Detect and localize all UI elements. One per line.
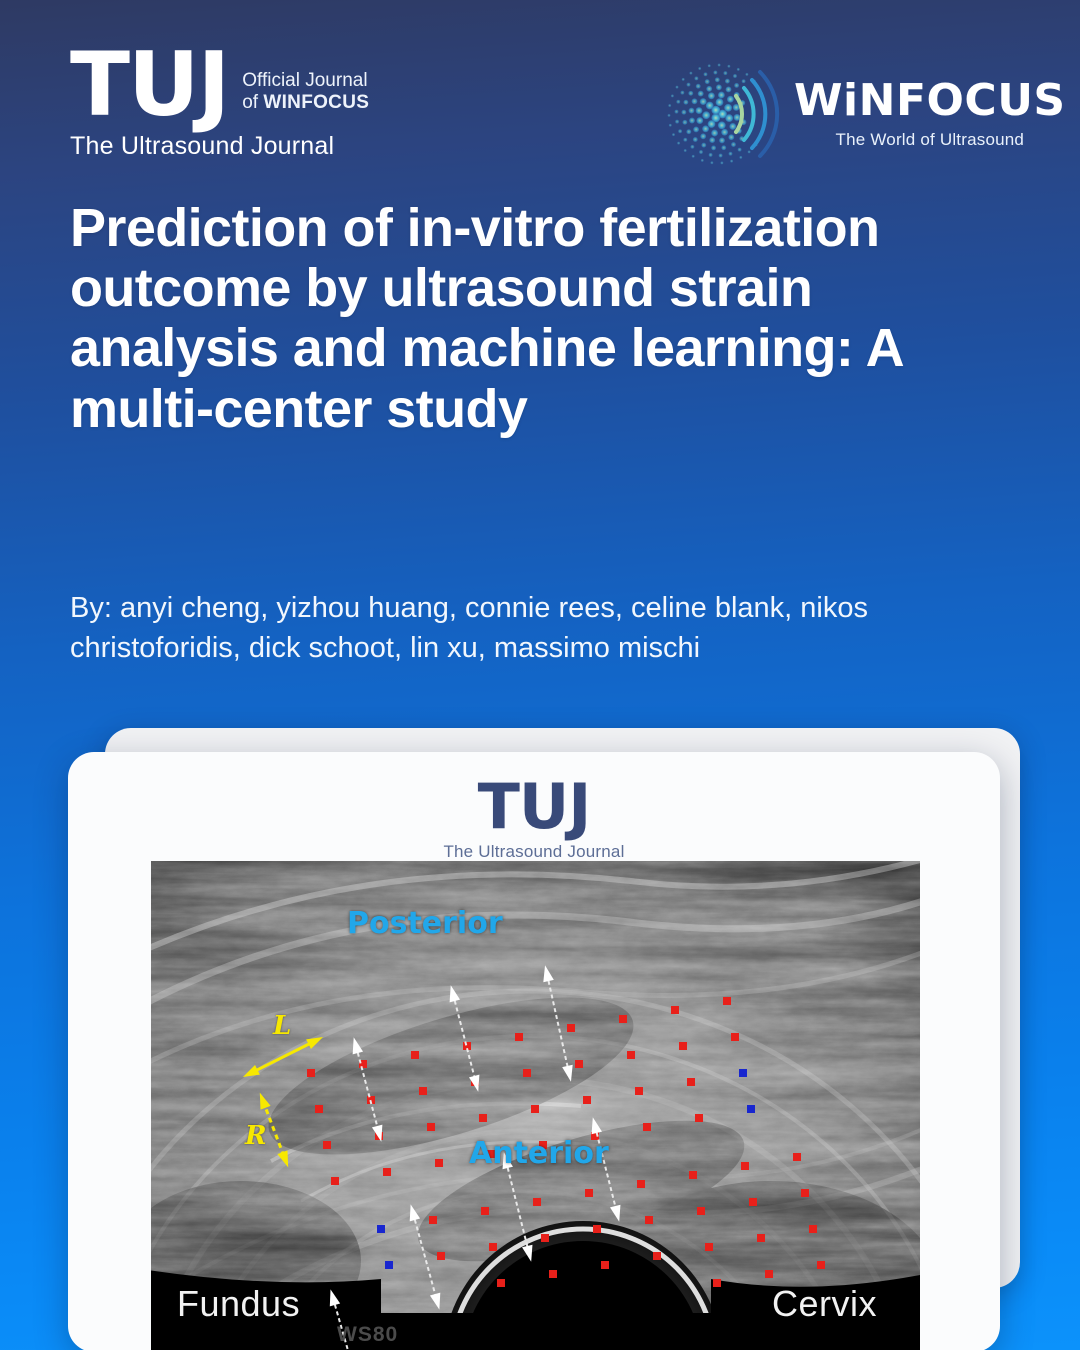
figure-label-posterior: Posterior	[347, 906, 503, 941]
poster-canvas: TUJ Official Journal of WINFOCUS The Ult…	[0, 0, 1080, 1350]
figure-card: TUJ The Ultrasound Journal	[68, 752, 1000, 1350]
ultrasound-figure: Posterior Anterior Fundus Cervix WS80 L …	[151, 861, 920, 1350]
figure-label-fundus: Fundus	[177, 1283, 300, 1325]
tuj-tagline: The Ultrasound Journal	[70, 132, 369, 161]
winfocus-slogan: The World of Ultrasound	[794, 130, 1066, 150]
ultrasound-image	[151, 861, 920, 1350]
winfocus-dotted-sphere-icon	[660, 52, 784, 176]
official-journal-of: of	[242, 92, 263, 113]
figure-label-cervix: Cervix	[772, 1283, 877, 1325]
figure-axis-label-r: R	[245, 1121, 267, 1151]
article-byline: By: anyi cheng, yizhou huang, connie ree…	[70, 588, 1000, 668]
winfocus-name: WiNFOCUS	[794, 79, 1066, 123]
tuj-official-journal-text: Official Journal of WINFOCUS	[242, 70, 369, 115]
official-journal-line1: Official Journal	[242, 70, 369, 92]
card-tuj-subtitle: The Ultrasound Journal	[68, 842, 1000, 862]
winfocus-logo-lockup: WiNFOCUS The World of Ultrasound	[660, 52, 1066, 176]
official-journal-winfocus: WINFOCUS	[263, 92, 369, 113]
tuj-logo-lockup: TUJ Official Journal of WINFOCUS The Ult…	[70, 48, 369, 161]
winfocus-wordmark: WiNFOCUS The World of Ultrasound	[794, 79, 1066, 150]
figure-label-anterior: Anterior	[469, 1136, 609, 1171]
official-journal-line2: of WINFOCUS	[242, 92, 369, 114]
tuj-logo-letters: TUJ	[70, 48, 228, 122]
card-tuj-letters: TUJ	[68, 776, 1000, 838]
figure-watermark: WS80	[337, 1323, 398, 1347]
figure-axis-label-l: L	[273, 1011, 291, 1041]
card-tuj-logo: TUJ The Ultrasound Journal	[68, 752, 1000, 862]
article-title: Prediction of in-vitro fertilization out…	[70, 198, 970, 439]
